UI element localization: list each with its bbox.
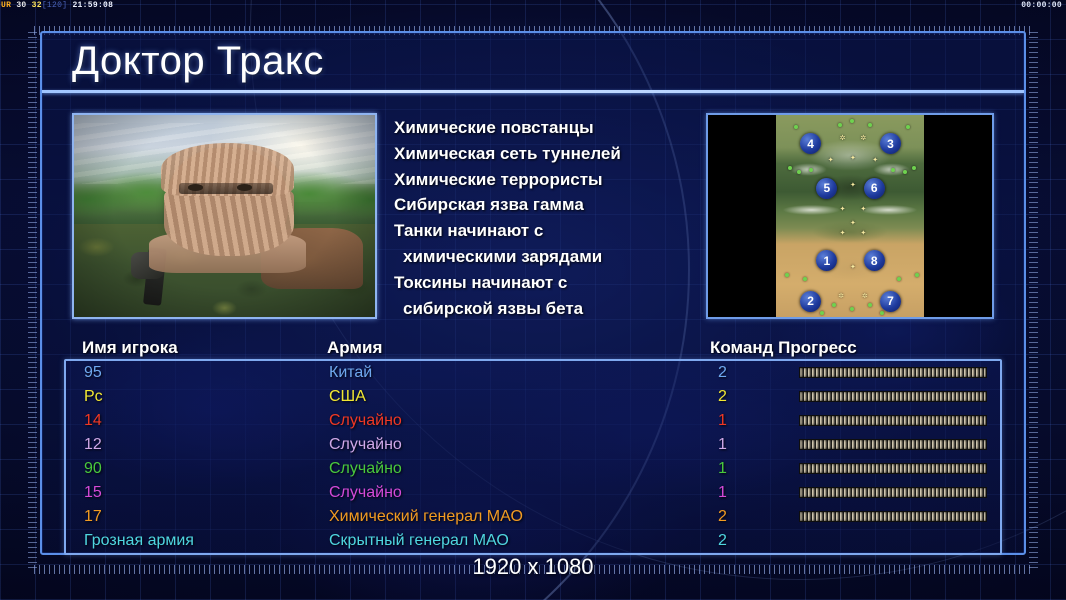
map-preview-image: ✲✲✦✦✦✦✦✦✦✦✦✦✲✲43561827 [776, 115, 924, 317]
general-portrait-frame [72, 113, 377, 319]
ruler-left [28, 30, 37, 568]
roster-panel: 95Китай2PcСША214Случайно112Случайно190Сл… [64, 359, 1002, 555]
cell-player-name: 14 [84, 409, 102, 433]
ruler-right [1029, 30, 1038, 568]
progress-bar [799, 367, 987, 378]
cell-player-name: 90 [84, 457, 102, 481]
general-portrait-image [74, 115, 375, 317]
map-prop-icon: ✲ [840, 135, 846, 142]
description-line: Танки начинают с [394, 218, 684, 244]
map-prop-icon: ✦ [850, 155, 856, 162]
map-resource-dot [803, 277, 807, 281]
map-start-position-2[interactable]: 2 [800, 291, 821, 312]
map-start-position-6[interactable]: 6 [864, 178, 885, 199]
title-divider [42, 90, 1024, 93]
map-terrain [776, 115, 924, 317]
cell-army: Случайно [329, 433, 402, 457]
cell-team: 2 [718, 361, 727, 385]
map-resource-dot [868, 123, 872, 127]
cell-army: Химический генерал МАО [329, 505, 523, 529]
table-row[interactable]: 17Химический генерал МАО2 [66, 505, 1000, 529]
game-lobby-screen: UR 30 32[120] 21:59:08 00:00:00 Доктор Т… [0, 0, 1066, 600]
table-row[interactable]: PcСША2 [66, 385, 1000, 409]
cell-player-name: Pc [84, 385, 103, 409]
status-clock: 21:59:08 [72, 1, 113, 10]
cell-team: 2 [718, 385, 727, 409]
roster-row-list: 95Китай2PcСША214Случайно112Случайно190Сл… [66, 361, 1000, 553]
cell-player-name: 17 [84, 505, 102, 529]
progress-bar [799, 487, 987, 498]
progress-bar [799, 463, 987, 474]
table-row[interactable]: 14Случайно1 [66, 409, 1000, 433]
description-line: Сибирская язва гамма [394, 192, 684, 218]
cell-player-name: 95 [84, 361, 102, 385]
map-start-position-5[interactable]: 5 [816, 178, 837, 199]
cell-team: 2 [718, 529, 727, 553]
cell-team: 1 [718, 433, 727, 457]
map-start-position-7[interactable]: 7 [880, 291, 901, 312]
description-line: сибирской язвы бета [394, 296, 684, 322]
cell-army: Случайно [329, 409, 402, 433]
map-prop-icon: ✲ [838, 293, 844, 300]
top-status-bar: UR 30 32[120] 21:59:08 00:00:00 [0, 0, 1066, 12]
description-line: Химическая сеть туннелей [394, 141, 684, 167]
general-description: Химические повстанцыХимическая сеть тунн… [394, 115, 684, 321]
cell-player-name: 12 [84, 433, 102, 457]
map-start-position-8[interactable]: 8 [864, 250, 885, 271]
cell-army: США [329, 385, 366, 409]
status-value-2: 32 [32, 1, 42, 10]
map-prop-icon: ✦ [840, 206, 846, 213]
fps-status-text: UR 30 32[120] 21:59:08 [1, 0, 113, 12]
header-team-progress: Команд Прогресс [710, 338, 857, 358]
map-prop-icon: ✦ [860, 230, 866, 237]
map-resource-dot [903, 170, 907, 174]
progress-bar [799, 511, 987, 522]
progress-bar [799, 439, 987, 450]
resolution-label: 1920 x 1080 [0, 554, 1066, 580]
progress-bar [799, 391, 987, 402]
map-prop-icon: ✦ [872, 157, 878, 164]
map-resource-dot [850, 307, 854, 311]
map-resource-dot [785, 273, 789, 277]
map-prop-icon: ✦ [828, 157, 834, 164]
map-resource-dot [850, 119, 854, 123]
description-line: химическими зарядами [394, 244, 684, 270]
status-value-1: 30 [16, 1, 26, 10]
cell-team: 1 [718, 481, 727, 505]
map-resource-dot [915, 273, 919, 277]
map-prop-icon: ✦ [850, 264, 856, 271]
description-line: Химические террористы [394, 167, 684, 193]
map-resource-dot [788, 166, 792, 170]
page-title: Доктор Тракс [72, 39, 324, 84]
map-resource-dot [809, 168, 813, 172]
cell-army: Случайно [329, 481, 402, 505]
map-resource-dot [794, 125, 798, 129]
table-row[interactable]: 12Случайно1 [66, 433, 1000, 457]
map-resource-dot [880, 311, 884, 315]
session-timer: 00:00:00 [1021, 0, 1062, 12]
map-resource-dot [868, 303, 872, 307]
map-prop-icon: ✲ [860, 135, 866, 142]
description-line: Химические повстанцы [394, 115, 684, 141]
general-info-row: Химические повстанцыХимическая сеть тунн… [72, 113, 994, 324]
map-prop-icon: ✦ [850, 220, 856, 227]
map-resource-dot [797, 170, 801, 174]
table-row[interactable]: Грозная армияСкрытный генерал МАО2 [66, 529, 1000, 553]
cell-player-name: 15 [84, 481, 102, 505]
map-prop-icon: ✦ [840, 230, 846, 237]
header-army: Армия [327, 338, 382, 358]
map-prop-icon: ✦ [850, 182, 856, 189]
cell-team: 1 [718, 409, 727, 433]
cell-army: Случайно [329, 457, 402, 481]
cell-player-name: Грозная армия [84, 529, 194, 553]
table-row[interactable]: 95Китай2 [66, 361, 1000, 385]
header-player-name: Имя игрока [82, 338, 178, 358]
table-row[interactable]: 15Случайно1 [66, 481, 1000, 505]
cell-army: Китай [329, 361, 372, 385]
map-prop-icon: ✲ [862, 293, 868, 300]
portrait-vignette [74, 115, 375, 317]
map-prop-icon: ✦ [860, 206, 866, 213]
status-prefix: UR [1, 1, 11, 10]
cell-team: 1 [718, 457, 727, 481]
map-resource-dot [912, 166, 916, 170]
progress-bar [799, 415, 987, 426]
description-line: Токсины начинают с [394, 270, 684, 296]
table-row[interactable]: 90Случайно1 [66, 457, 1000, 481]
cell-team: 2 [718, 505, 727, 529]
roster-column-headers: Имя игрока Армия Команд Прогресс [72, 338, 994, 360]
map-preview-frame[interactable]: ✲✲✦✦✦✦✦✦✦✦✦✦✲✲43561827 [706, 113, 994, 319]
title-zone: Доктор Тракс [40, 33, 1026, 91]
cell-army: Скрытный генерал МАО [329, 529, 509, 553]
status-bracket: [120] [42, 1, 68, 10]
